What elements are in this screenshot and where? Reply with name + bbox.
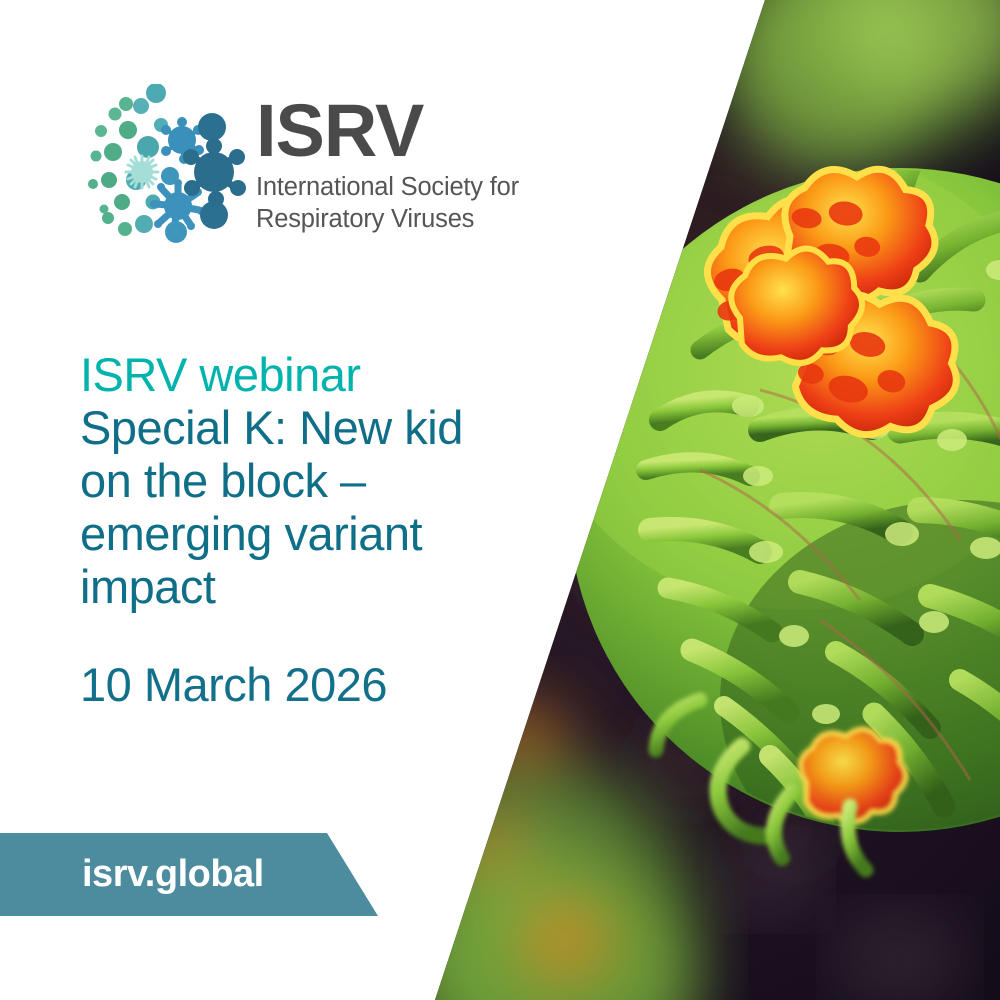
headline-line-1: Special K: New kid (80, 401, 550, 454)
headline-line-3: emerging variant (80, 507, 550, 560)
logo-tagline: International Society for Respiratory Vi… (256, 172, 519, 234)
isrv-virus-dot-cluster-icon (78, 84, 246, 244)
logo-tagline-line-2: Respiratory Viruses (256, 204, 519, 235)
headline-line-4: impact (80, 560, 550, 613)
isrv-logo: ISRV International Society for Respirato… (78, 84, 519, 244)
website-banner[interactable]: isrv.global (0, 833, 378, 916)
headline-line-2: on the block – (80, 454, 550, 507)
logo-tagline-line-1: International Society for (256, 172, 519, 203)
logo-text-block: ISRV International Society for Respirato… (256, 93, 519, 234)
event-date: 10 March 2026 (80, 658, 387, 711)
logo-wordmark: ISRV (256, 97, 519, 165)
headline-block: ISRV webinar Special K: New kid on the b… (80, 348, 550, 613)
headline-kicker: ISRV webinar (80, 348, 550, 401)
poster-canvas: ISRV International Society for Respirato… (0, 0, 1000, 1000)
website-url[interactable]: isrv.global (0, 853, 264, 896)
